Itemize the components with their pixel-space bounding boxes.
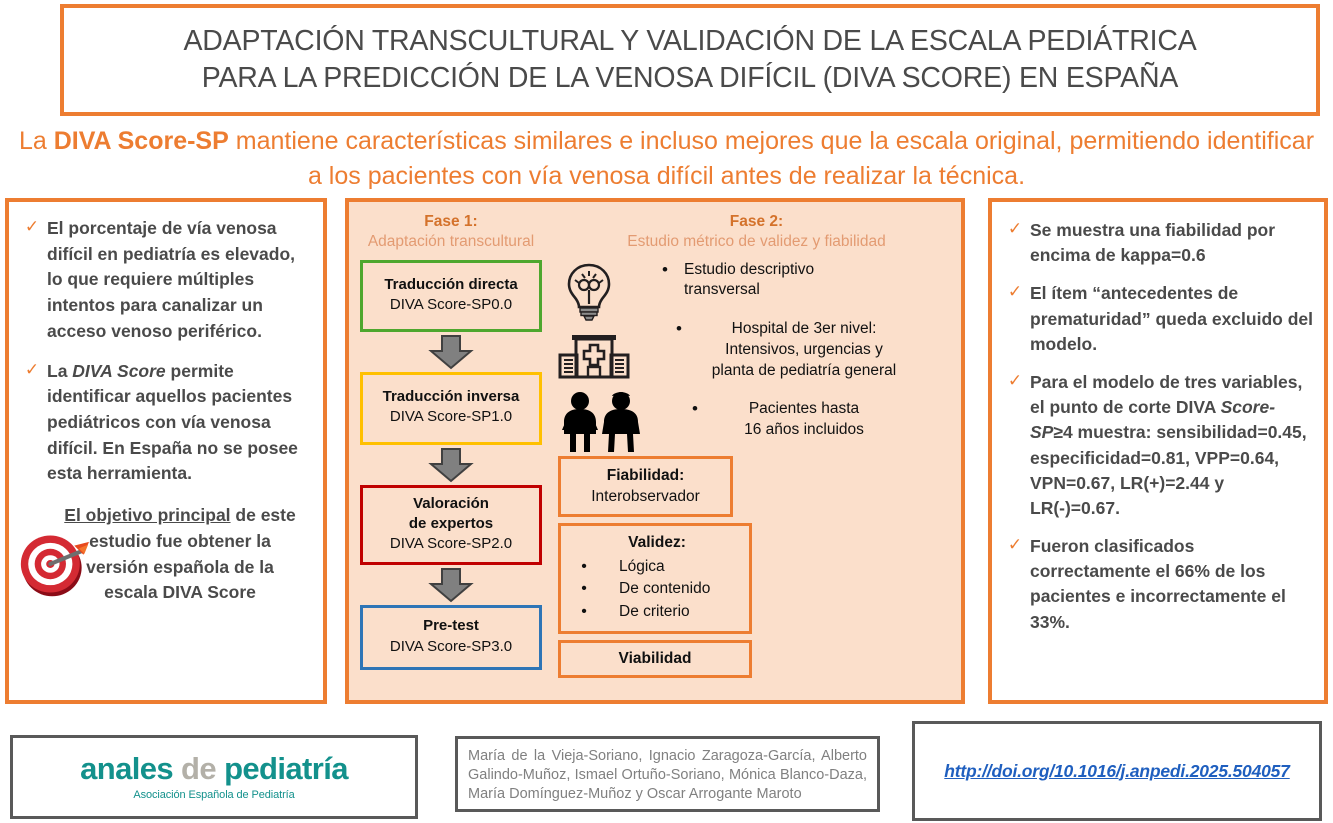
box-validez: Validez: • Lógica • De contenido • De cr… (558, 523, 752, 634)
fase2-bullet-1-line2: transversal (684, 281, 760, 298)
fase2-icon-stack (558, 260, 654, 457)
lightbulb-icon (558, 260, 620, 322)
flow-step-4-title: Pre-test (367, 616, 535, 636)
list-item: ✓ El ítem “antecedentes de prematuridad”… (1000, 281, 1314, 357)
logo-word-3: pediatría (224, 751, 348, 786)
box-fiabilidad: Fiabilidad: Interobservador (558, 456, 733, 517)
objective-underlined: El objetivo principal (64, 505, 230, 525)
list-item: ✓ Fueron clasificados correctamente el 6… (1000, 534, 1314, 635)
flow-step-3-title-line2: de expertos (367, 514, 535, 534)
left-panel-introduction: ✓ El porcentaje de vía venosa difícil en… (5, 198, 327, 704)
poster-root: ADAPTACIÓN TRANSCULTURAL Y VALIDACIÓN DE… (0, 0, 1333, 823)
flow-step-2-version: DIVA Score-SP1.0 (367, 407, 535, 427)
bullet-dot-icon: • (571, 601, 597, 623)
doi-box: http://doi.org/10.1016/j.anpedi.2025.504… (912, 721, 1322, 821)
bullet-dot-icon: • (662, 260, 668, 280)
flow-step-pretest: Pre-test DIVA Score-SP3.0 (360, 605, 542, 670)
fase2-bullet-2: • Hospital de 3er nivel: Intensivos, urg… (654, 319, 954, 381)
fase2-bullet-2-line2: Intensivos, urgencias y (725, 341, 883, 358)
logo-word-2: de (173, 751, 224, 786)
list-item: • De contenido (571, 578, 743, 600)
left-bullet-2-pre: La (47, 361, 72, 381)
bullet-dot-icon: • (692, 399, 698, 419)
middle-panel-methods: Fase 1: Adaptación transcultural Traducc… (345, 198, 965, 704)
fase1-heading: Fase 1: Adaptación transcultural (357, 202, 545, 252)
objective-block: El objetivo principal de este estudio fu… (17, 503, 313, 606)
journal-logo-subtitle: Asociación Española de Pediatría (133, 789, 294, 801)
right-bullet-1: Se muestra una fiabilidad por encima de … (1030, 218, 1314, 268)
flow-step-1-version: DIVA Score-SP0.0 (367, 295, 535, 315)
subtitle-rest: mantiene características similares e inc… (229, 127, 1314, 190)
check-icon: ✓ (1000, 534, 1030, 555)
fase2-bullet-list: • Estudio descriptivo transversal • Hosp… (654, 260, 954, 459)
right-bullet-3: Para el modelo de tres variables, el pun… (1030, 370, 1314, 521)
list-item: ✓ Se muestra una fiabilidad por encima d… (1000, 218, 1314, 268)
arrow-down-icon-1 (357, 332, 545, 372)
authors-list: María de la Vieja-Soriano, Ignacio Zarag… (468, 747, 867, 804)
left-bullet-list: ✓ El porcentaje de vía venosa difícil en… (9, 202, 323, 606)
bullet-dot-icon: • (676, 319, 682, 339)
fase2-bullet-1-line1: Estudio descriptivo (684, 261, 814, 278)
journal-logo-box: anales de pediatría Asociación Española … (10, 735, 418, 819)
flow-step-2-title: Traducción inversa (367, 387, 535, 407)
box-viabilidad: Viabilidad (558, 640, 752, 678)
flow-step-4-version: DIVA Score-SP3.0 (367, 637, 535, 657)
arrow-down-icon-3 (357, 565, 545, 605)
right-panel-results: ✓ Se muestra una fiabilidad por encima d… (988, 198, 1328, 704)
subtitle-lead: La (19, 127, 54, 155)
validez-list: • Lógica • De contenido • De criterio (571, 556, 743, 623)
list-item: ✓ La DIVA Score permite identificar aque… (17, 359, 313, 488)
list-item: ✓ El porcentaje de vía venosa difícil en… (17, 216, 313, 345)
check-icon: ✓ (17, 359, 47, 380)
fiabilidad-title: Fiabilidad: (567, 465, 724, 487)
journal-logo: anales de pediatría (80, 753, 348, 784)
fase1-label: Fase 1: (424, 213, 477, 230)
authors-box: María de la Vieja-Soriano, Ignacio Zarag… (455, 736, 880, 812)
check-icon: ✓ (1000, 218, 1030, 239)
check-icon: ✓ (1000, 370, 1030, 391)
fase2-column: Fase 2: Estudio métrico de validez y fia… (554, 202, 959, 684)
right-bullet-4: Fueron clasificados correctamente el 66%… (1030, 534, 1314, 635)
right-bullet-list: ✓ Se muestra una fiabilidad por encima d… (992, 202, 1324, 635)
validez-item-1: Lógica (597, 556, 743, 578)
fase1-subtitle: Adaptación transcultural (368, 233, 534, 250)
check-icon: ✓ (1000, 281, 1030, 302)
validez-item-3: De criterio (597, 601, 743, 623)
hospital-icon (558, 331, 630, 383)
fase2-bullet-3: • Pacientes hasta 16 años incluidos (654, 399, 954, 441)
list-item: • Lógica (571, 556, 743, 578)
left-bullet-2-italic: DIVA Score (72, 361, 165, 381)
bullet-dot-icon: • (571, 556, 597, 578)
poster-subtitle: La DIVA Score-SP mantiene característica… (10, 120, 1323, 192)
arrow-down-icon-2 (357, 445, 545, 485)
fase2-description-block: • Estudio descriptivo transversal • Hosp… (554, 256, 959, 456)
check-icon: ✓ (17, 216, 47, 237)
list-item: ✓ Para el modelo de tres variables, el p… (1000, 370, 1314, 521)
fase2-bullet-3-line1: Pacientes hasta (749, 400, 859, 417)
fase2-label: Fase 2: (730, 213, 783, 230)
fase2-bullet-1: • Estudio descriptivo transversal (654, 260, 954, 302)
flow-step-traduccion-inversa: Traducción inversa DIVA Score-SP1.0 (360, 372, 542, 445)
validez-title: Validez: (571, 532, 743, 554)
poster-title-box: ADAPTACIÓN TRANSCULTURAL Y VALIDACIÓN DE… (60, 4, 1320, 116)
children-icon (558, 390, 644, 452)
flow-step-valoracion-expertos: Valoración de expertos DIVA Score-SP2.0 (360, 485, 542, 566)
fase1-column: Fase 1: Adaptación transcultural Traducc… (357, 202, 545, 670)
logo-word-1: anales (80, 751, 173, 786)
page-title: ADAPTACIÓN TRANSCULTURAL Y VALIDACIÓN DE… (171, 23, 1208, 97)
fase2-bullet-2-line1: Hospital de 3er nivel: (732, 320, 877, 337)
flow-step-traduccion-directa: Traducción directa DIVA Score-SP0.0 (360, 260, 542, 333)
fiabilidad-body: Interobservador (591, 488, 700, 505)
left-bullet-2: La DIVA Score permite identificar aquell… (47, 359, 313, 488)
right-bullet-3-post: ≥4 muestra: sensibilidad=0.45, especific… (1030, 422, 1307, 518)
fase2-subtitle: Estudio métrico de validez y fiabilidad (627, 233, 885, 250)
right-bullet-2: El ítem “antecedentes de prematuridad” q… (1030, 281, 1314, 357)
list-item: • De criterio (571, 601, 743, 623)
flow-step-3-version: DIVA Score-SP2.0 (367, 534, 535, 554)
flow-step-1-title: Traducción directa (367, 275, 535, 295)
fase2-bullet-3-line2: 16 años incluidos (744, 421, 864, 438)
left-bullet-1: El porcentaje de vía venosa difícil en p… (47, 216, 313, 345)
bullet-dot-icon: • (571, 578, 597, 600)
validez-item-2: De contenido (597, 578, 743, 600)
title-line-2: PARA LA PREDICCIÓN DE LA VENOSA DIFÍCIL … (202, 62, 1178, 94)
title-line-1: ADAPTACIÓN TRANSCULTURAL Y VALIDACIÓN DE… (183, 25, 1196, 57)
flow-step-3-title-line1: Valoración (367, 494, 535, 514)
fase2-bullet-2-line3: planta de pediatría general (712, 362, 896, 379)
doi-link[interactable]: http://doi.org/10.1016/j.anpedi.2025.504… (944, 761, 1289, 782)
target-dartboard-icon (17, 529, 91, 599)
subtitle-bold-term: DIVA Score-SP (54, 127, 229, 155)
fase2-heading: Fase 2: Estudio métrico de validez y fia… (554, 202, 959, 252)
